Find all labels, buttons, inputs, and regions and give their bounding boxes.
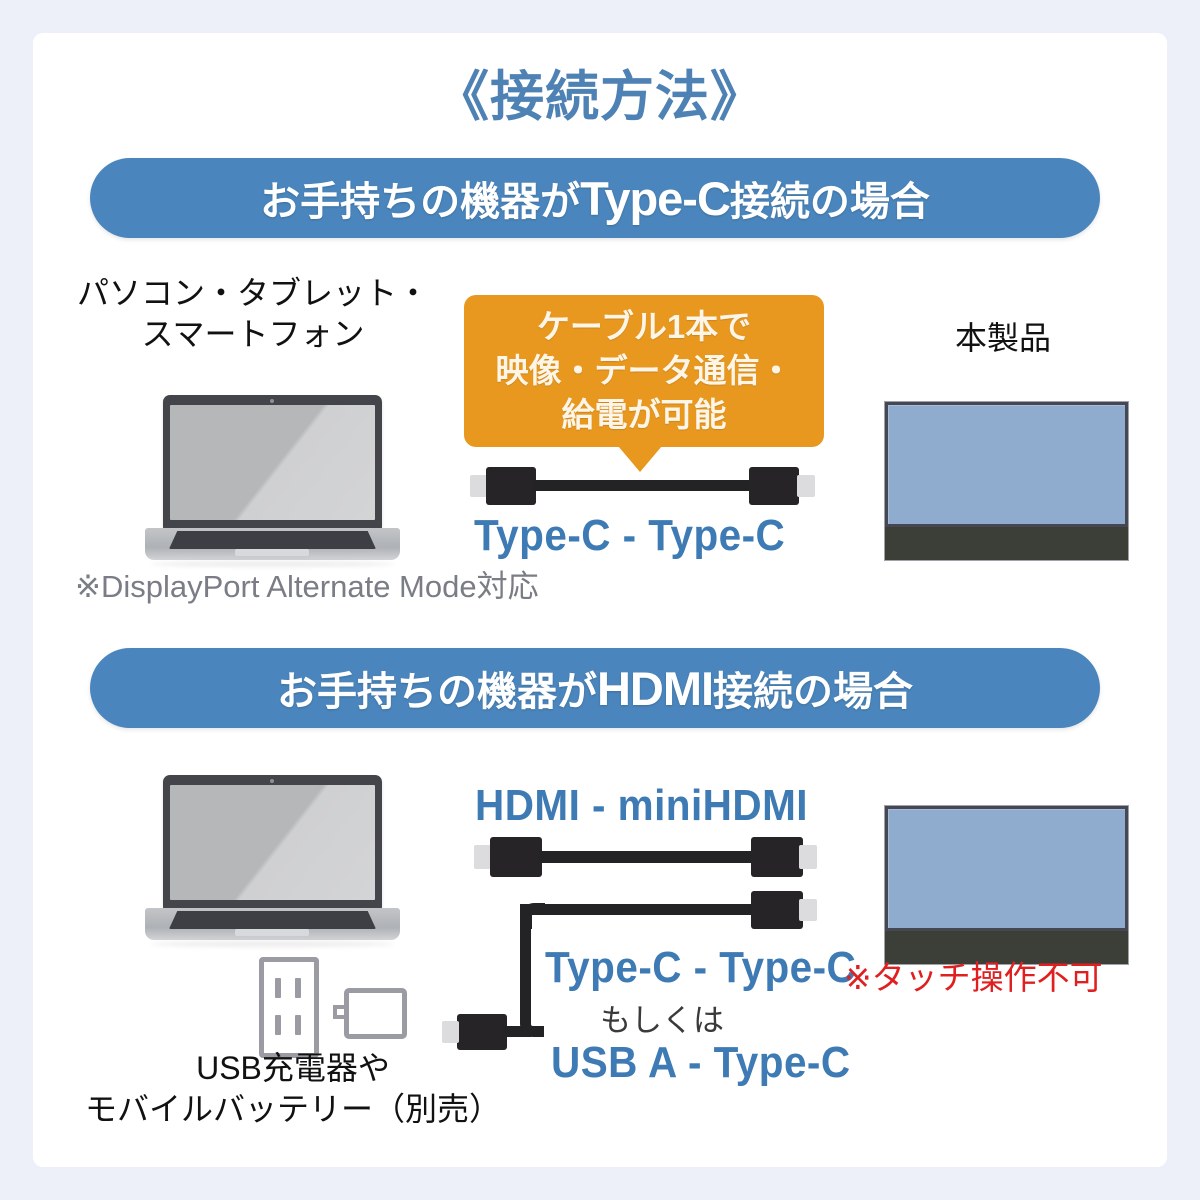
monitor-chin <box>885 527 1128 560</box>
monitor-illustration-bottom <box>884 805 1129 965</box>
laptop-screen <box>170 785 375 900</box>
monitor-screen <box>888 405 1125 524</box>
laptop-trackpad <box>235 549 309 556</box>
label-source-devices: パソコン・タブレット・ スマートフォン <box>63 273 443 355</box>
section-banner-typec: お手持ちの機器がType-C接続の場合 <box>90 158 1100 238</box>
banner-hdmi-suffix: 接続の場合 <box>713 670 913 714</box>
content-card: 《接続方法》 お手持ちの機器がType-C接続の場合 パソコン・タブレット・ ス… <box>33 33 1167 1167</box>
webcam-icon <box>270 399 274 403</box>
cable-label-typec-typec: Type-C - Type-C <box>474 511 785 561</box>
cable-tip-right <box>799 845 817 869</box>
section-banner-hdmi: お手持ちの機器がHDMI接続の場合 <box>90 648 1100 728</box>
power-cable-tip-left <box>442 1021 459 1043</box>
monitor-illustration-top <box>884 401 1129 561</box>
laptop-illustration-bottom <box>145 775 400 953</box>
power-cable-connector-right <box>751 891 803 929</box>
banner-typec-emphasis: Type-C <box>580 172 730 225</box>
power-cable-connector-left <box>457 1014 507 1050</box>
cable-label-usba-typec: USB A - Type-C <box>551 1038 851 1088</box>
banner-hdmi-emphasis: HDMI <box>597 662 713 715</box>
banner-typec-prefix: お手持ちの機器が <box>260 180 580 224</box>
banner-hdmi-text: お手持ちの機器がHDMI接続の場合 <box>277 659 913 717</box>
webcam-icon <box>270 779 274 783</box>
laptop-screen <box>170 405 375 520</box>
laptop-keyboard <box>169 531 376 549</box>
wall-outlet-icon <box>259 957 319 1058</box>
outlet-slot <box>275 1015 281 1035</box>
callout-tail-icon <box>618 446 662 472</box>
outlet-slot <box>295 978 301 998</box>
laptop-keyboard <box>169 911 376 929</box>
cable-connector-right <box>749 467 799 505</box>
laptop-shadow <box>151 941 394 947</box>
monitor-screen <box>888 809 1125 928</box>
laptop-trackpad <box>235 929 309 936</box>
laptop-illustration-top <box>145 395 400 573</box>
banner-hdmi-prefix: お手持ちの機器が <box>277 670 597 714</box>
footnote-displayport: ※DisplayPort Alternate Mode対応 <box>75 561 539 606</box>
cable-wire <box>533 480 763 491</box>
cable-label-hdmi-minihdmi: HDMI - miniHDMI <box>475 781 808 831</box>
warning-no-touch: ※タッチ操作不可 <box>844 951 1103 999</box>
banner-typec-text: お手持ちの機器がType-C接続の場合 <box>260 169 930 227</box>
laptop-lid <box>163 395 382 530</box>
power-cable-wire-horizontal-top <box>527 904 755 915</box>
label-this-product: 本製品 <box>853 318 1153 359</box>
cable-connector-left <box>490 837 542 877</box>
cable-alt-text: もしくは <box>600 995 724 1040</box>
power-cable-tip-right <box>799 899 817 921</box>
callout-text: ケーブル1本で 映像・データ通信・ 給電が可能 <box>496 305 793 437</box>
cable-wire <box>539 851 755 863</box>
label-power-source: USB充電器や モバイルバッテリー（別売） <box>63 1048 523 1130</box>
outlet-slot <box>295 1015 301 1035</box>
cable-connector-left <box>486 467 536 505</box>
callout-bubble-typec: ケーブル1本で 映像・データ通信・ 給電が可能 <box>464 295 824 447</box>
banner-typec-suffix: 接続の場合 <box>730 180 930 224</box>
laptop-lid <box>163 775 382 910</box>
page-title: 《接続方法》 <box>33 70 1167 124</box>
cable-label-typec-typec-2: Type-C - Type-C <box>545 943 856 993</box>
cable-tip-right <box>797 475 815 497</box>
usb-charger-icon <box>344 988 407 1039</box>
outlet-slot <box>275 978 281 998</box>
cable-connector-right <box>751 837 803 877</box>
